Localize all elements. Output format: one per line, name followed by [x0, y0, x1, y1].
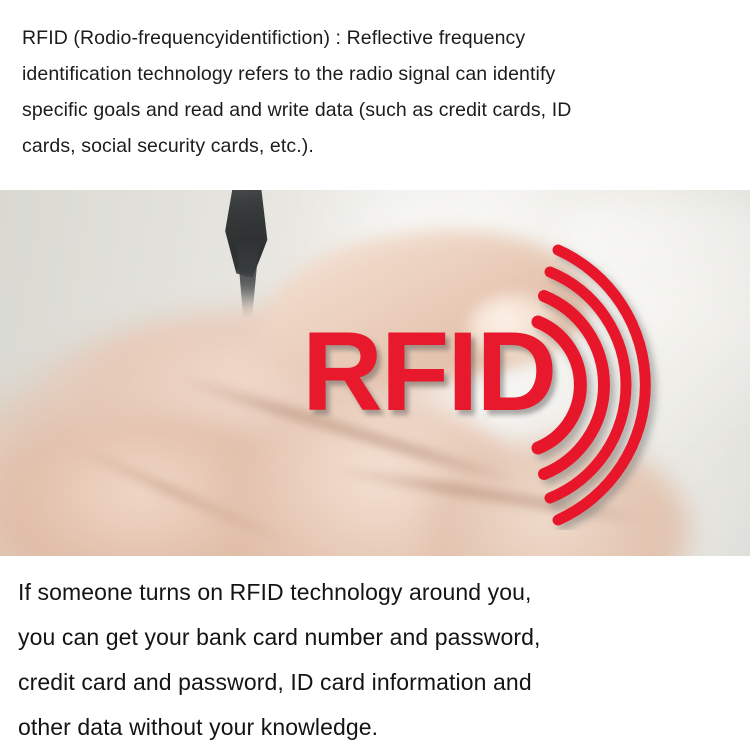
top-text-line-3: specific goals and read and write data (… — [22, 92, 730, 128]
top-text-line-1: RFID (Rodio-frequencyidentifiction) : Re… — [22, 20, 730, 56]
bottom-text-line-1: If someone turns on RFID technology arou… — [18, 570, 734, 615]
rfid-hand-photo: RFID — [0, 190, 750, 556]
bottom-text-line-4: other data without your knowledge. — [18, 705, 734, 750]
bottom-text-line-2: you can get your bank card number and pa… — [18, 615, 734, 660]
top-description-text: RFID (Rodio-frequencyidentifiction) : Re… — [0, 0, 750, 190]
bottom-text-line-3: credit card and password, ID card inform… — [18, 660, 734, 705]
bottom-description-text: If someone turns on RFID technology arou… — [0, 556, 750, 750]
product-description-page: RFID (Rodio-frequencyidentifiction) : Re… — [0, 0, 750, 750]
top-text-line-2: identification technology refers to the … — [22, 56, 730, 92]
photo-fingertip-nail — [468, 294, 560, 360]
top-text-line-4: cards, social security cards, etc.). — [22, 128, 730, 164]
